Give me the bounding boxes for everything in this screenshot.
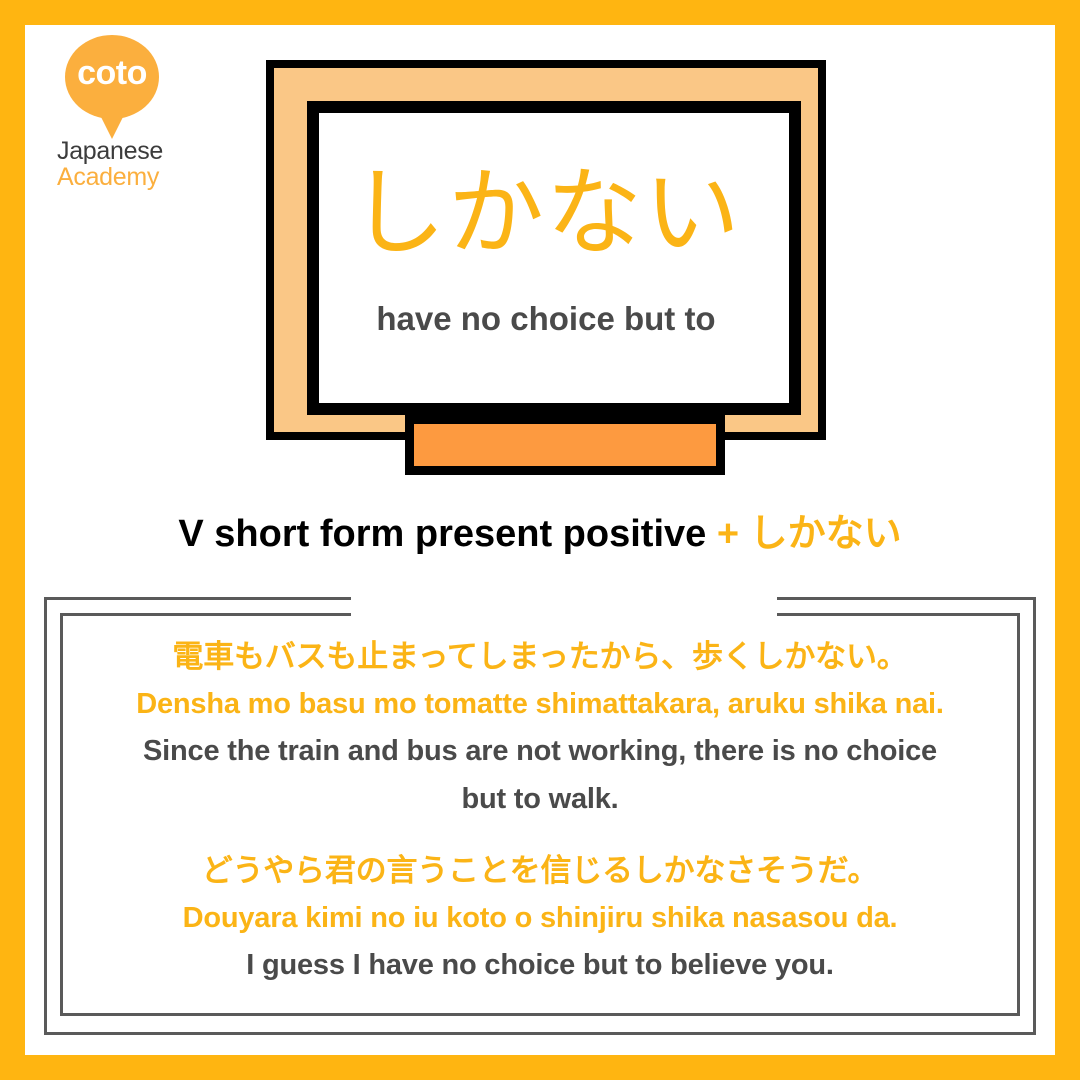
frame-inner-right <box>1017 613 1020 1016</box>
lesson-card: coto Japanese Academy しかない have no choic… <box>25 25 1055 1055</box>
example-japanese: 電車もバスも止まってしまったから、歩くしかない。 <box>80 633 1000 681</box>
frame-outer-left <box>44 597 47 1035</box>
example-english-line-1: I guess I have no choice but to believe … <box>80 941 1000 989</box>
examples-frame: 電車もバスも止まってしまったから、歩くしかない。 Densha mo basu … <box>35 588 1045 1043</box>
example-sentence: 電車もバスも止まってしまったから、歩くしかない。 Densha mo basu … <box>80 633 1000 823</box>
examples-spacer <box>80 823 1000 847</box>
frame-inner-top-left-segment <box>60 613 351 616</box>
whiteboard-tray <box>405 415 725 475</box>
example-romaji: Douyara kimi no iu koto o shinjiru shika… <box>80 895 1000 941</box>
logo-line-academy: Academy <box>42 163 202 192</box>
frame-outer-top-left-segment <box>44 597 351 600</box>
whiteboard-content: しかない have no choice but to <box>311 105 781 395</box>
frame-inner-bottom <box>60 1013 1020 1016</box>
example-japanese: どうやら君の言うことを信じるしかなさそうだ。 <box>80 847 1000 895</box>
whiteboard-illustration: しかない have no choice but to <box>266 60 826 470</box>
logo-line-japanese: Japanese <box>42 137 202 166</box>
speech-bubble-tail-icon <box>99 113 125 139</box>
examples-list: 電車もバスも止まってしまったから、歩くしかない。 Densha mo basu … <box>80 633 1000 998</box>
example-english-line-2: but to walk. <box>80 775 1000 823</box>
example-english-line-1: Since the train and bus are not working,… <box>80 727 1000 775</box>
frame-outer-right <box>1033 597 1036 1035</box>
frame-outer-top-right-segment <box>777 597 1036 600</box>
grammar-point-english: have no choice but to <box>376 300 715 338</box>
logo-brand-text: coto <box>65 50 159 96</box>
coto-japanese-academy-logo: coto Japanese Academy <box>42 33 202 193</box>
example-sentence: どうやら君の言うことを信じるしかなさそうだ。 Douyara kimi no i… <box>80 847 1000 989</box>
example-romaji: Densha mo basu mo tomatte shimattakara, … <box>80 681 1000 727</box>
frame-inner-left <box>60 613 63 1016</box>
formula-accent-part: + しかない <box>717 513 902 555</box>
frame-inner-top-right-segment <box>777 613 1020 616</box>
grammar-point-japanese: しかない <box>350 162 742 266</box>
formula-black-part: V short form present positive <box>178 513 716 555</box>
grammar-formula: V short form present positive + しかない <box>25 508 1055 560</box>
frame-outer-bottom <box>44 1032 1036 1035</box>
